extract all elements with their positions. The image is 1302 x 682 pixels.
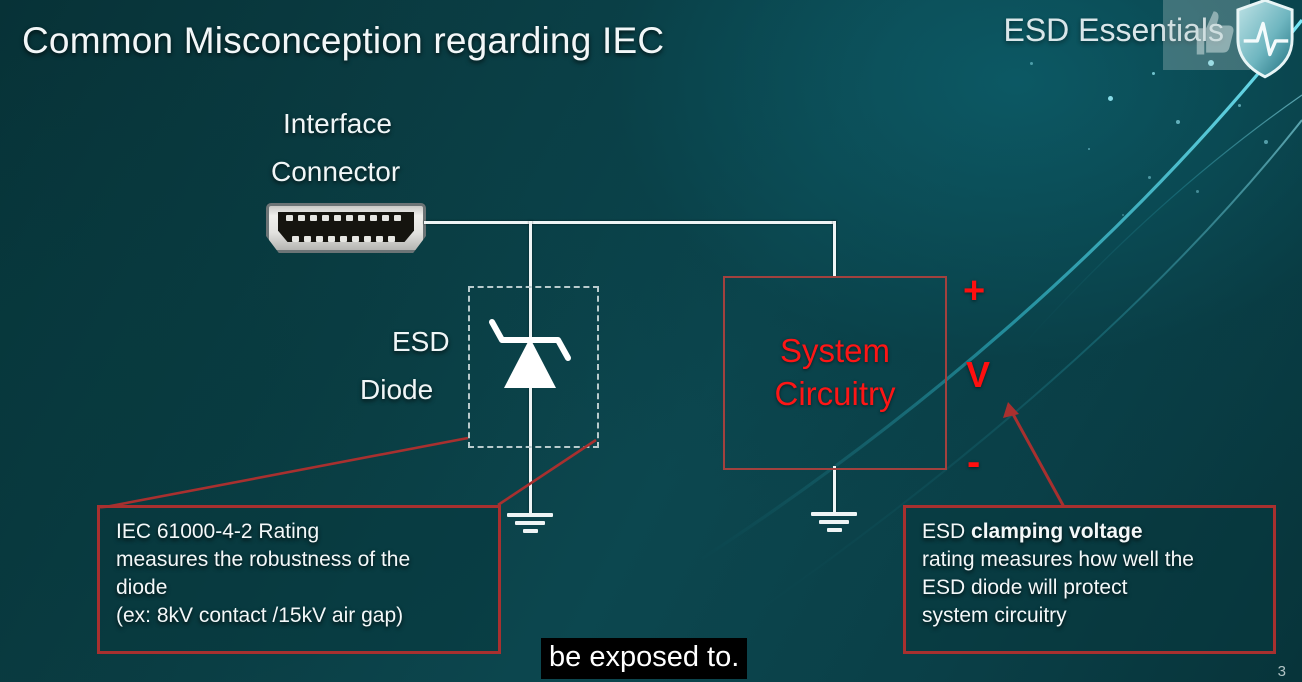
callout-left-line2: measures the robustness of the <box>116 546 484 574</box>
callout-right-line1-normal: ESD <box>922 520 971 543</box>
esd-label-line2: Diode <box>360 374 433 406</box>
callout-right-line4: system circuitry <box>922 602 1259 630</box>
hdmi-connector-icon <box>266 203 426 253</box>
connector-pins-bottom <box>292 236 395 242</box>
callout-right-line1-bold: clamping voltage <box>971 520 1143 543</box>
system-circuitry-label-line1: System <box>780 333 890 370</box>
interface-label-line2: Connector <box>271 156 400 188</box>
callout-iec-rating: IEC 61000-4-2 Rating measures the robust… <box>97 505 501 654</box>
connector-pins-top <box>286 215 401 221</box>
polarity-plus-marker: + <box>963 270 985 313</box>
page-number: 3 <box>1278 663 1286 680</box>
callout-right-line1: ESD clamping voltage <box>922 518 1259 546</box>
esd-label-line1: ESD <box>392 326 450 358</box>
ground-symbol-icon <box>811 512 857 536</box>
callout-left-line4: (ex: 8kV contact /15kV air gap) <box>116 602 484 630</box>
wire-system-top <box>833 221 836 276</box>
callout-left-line3: diode <box>116 574 484 602</box>
interface-label-line1: Interface <box>283 108 392 140</box>
zener-tvs-diode-icon <box>484 300 580 412</box>
voltage-marker: V <box>966 354 990 396</box>
callout-clamping-voltage: ESD clamping voltage rating measures how… <box>903 505 1276 654</box>
callout-right-line2: rating measures how well the <box>922 546 1259 574</box>
callout-left-line1: IEC 61000-4-2 Rating <box>116 518 484 546</box>
wire-system-ground <box>833 466 836 514</box>
wire-signal-horizontal <box>424 221 836 224</box>
ground-symbol-icon <box>507 513 553 537</box>
slide-canvas: Common Misconception regarding IEC ESD E… <box>0 0 1302 682</box>
system-circuitry-label-line2: Circuitry <box>775 376 896 413</box>
subtitle-caption: be exposed to. <box>541 638 747 679</box>
system-circuitry-box: System Circuitry <box>723 276 947 470</box>
callout-right-line3: ESD diode will protect <box>922 574 1259 602</box>
polarity-minus-marker: - <box>967 440 980 485</box>
